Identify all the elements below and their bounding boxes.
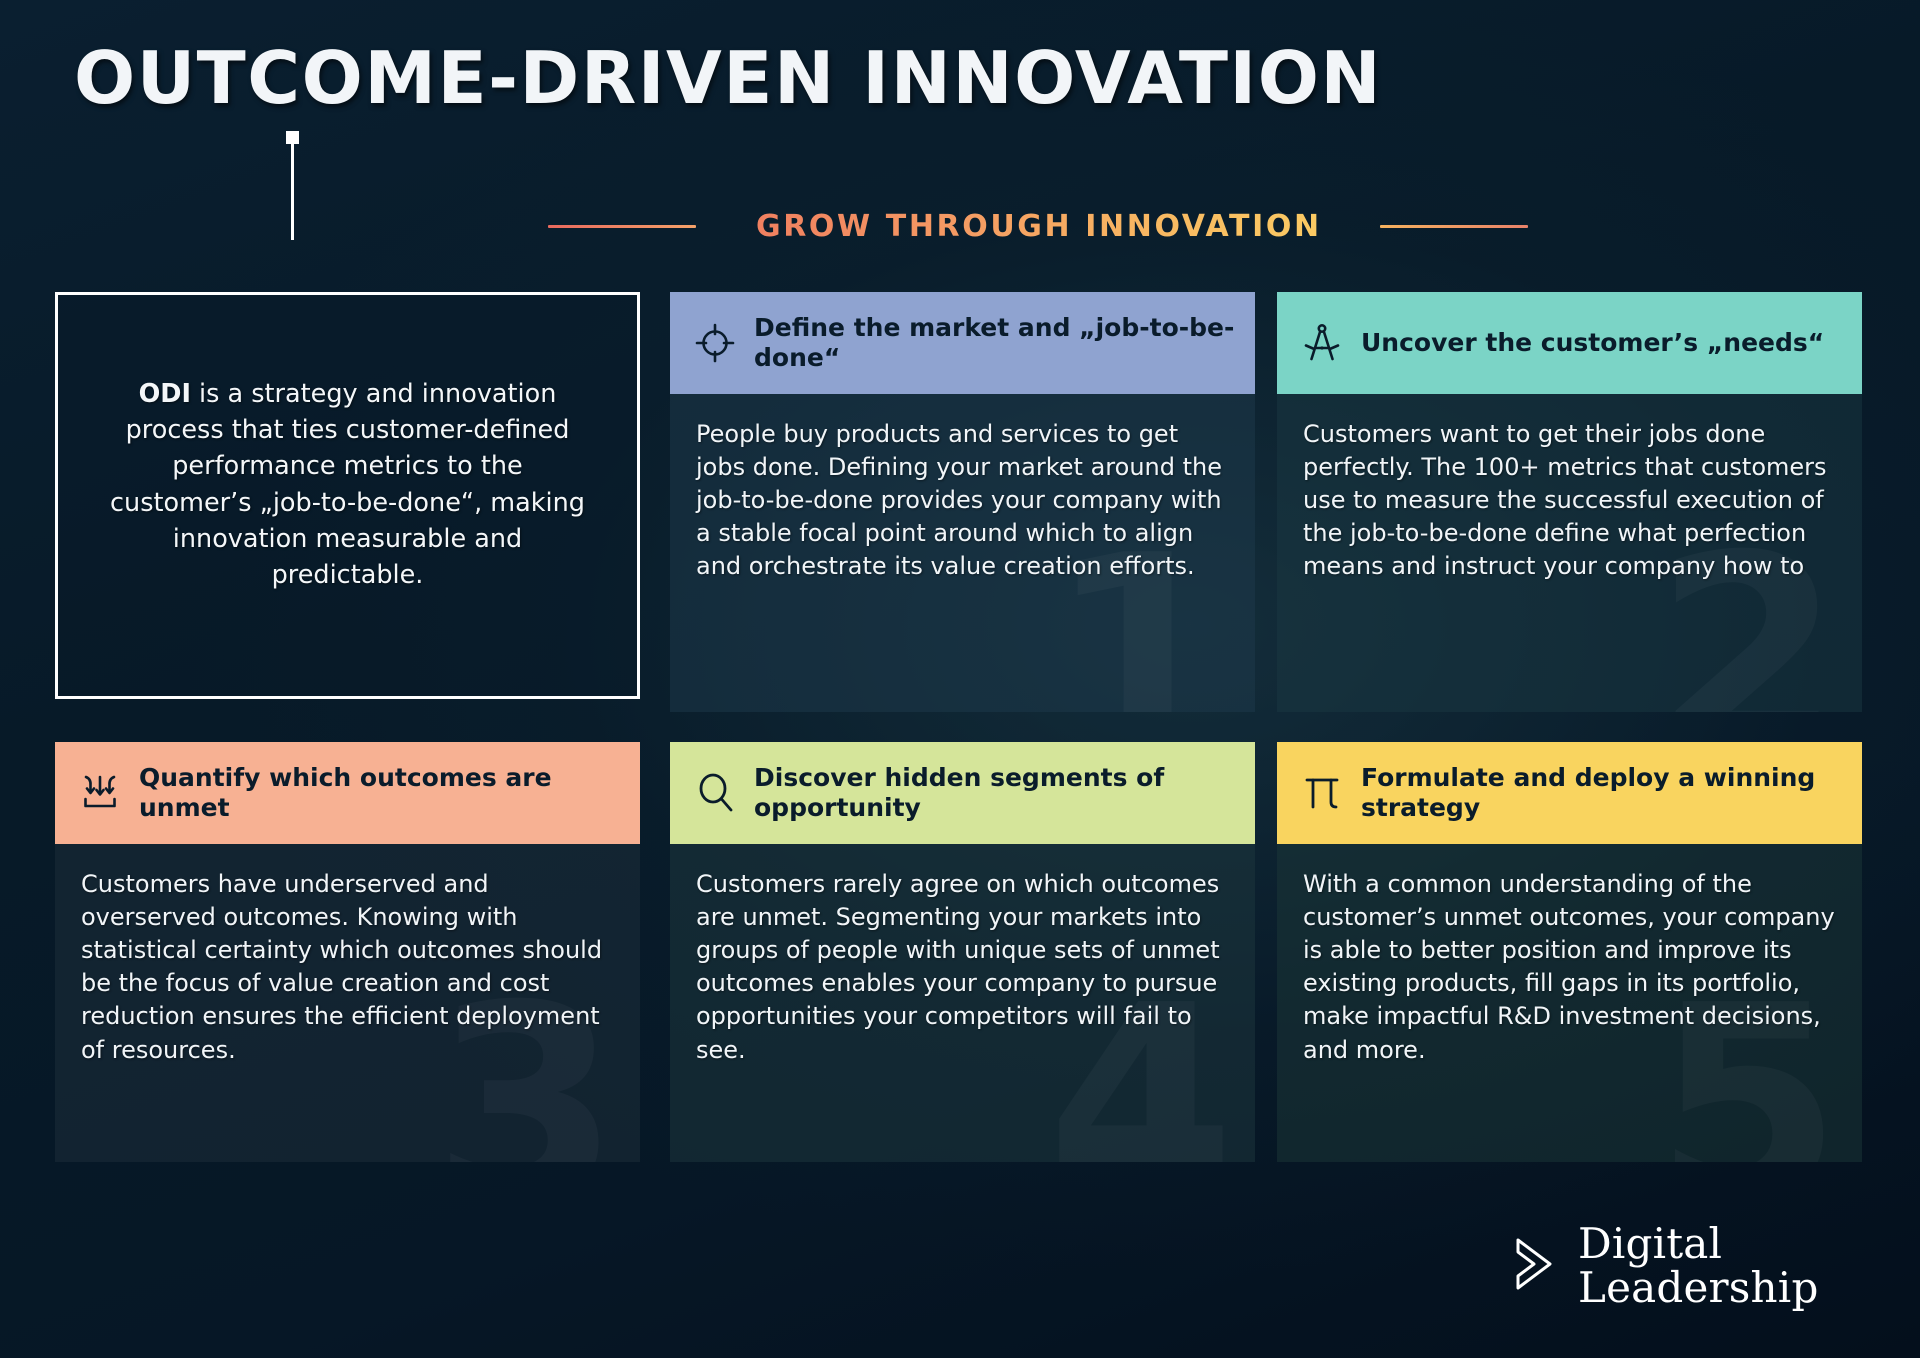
card-header: Discover hidden segments of opportunity — [670, 742, 1255, 844]
crosshair-target-icon — [692, 320, 738, 366]
card-title: Uncover the customer’s „needs“ — [1361, 328, 1824, 359]
card-header: Uncover the customer’s „needs“ — [1277, 292, 1862, 394]
odi-definition-text: ODI is a strategy and innovation process… — [98, 376, 597, 593]
subtitle-row: GROW THROUGH INNOVATION — [548, 206, 1868, 246]
arrows-into-tray-icon — [77, 770, 123, 816]
card-header: Quantify which outcomes are unmet — [55, 742, 640, 844]
card-define-market[interactable]: Define the market and „job-to-be-done“ P… — [670, 292, 1255, 712]
compass-divider-icon — [1299, 320, 1345, 366]
card-quantify-outcomes[interactable]: Quantify which outcomes are unmet Custom… — [55, 742, 640, 1162]
card-title: Formulate and deploy a winning strategy — [1361, 763, 1844, 824]
brand-wordmark: Digital Leadership — [1578, 1222, 1819, 1309]
connector-square — [286, 131, 299, 144]
pi-gate-icon — [1299, 770, 1345, 816]
brand-line-1: Digital — [1578, 1222, 1819, 1266]
card-title: Define the market and „job-to-be-done“ — [754, 313, 1237, 374]
card-body-text: People buy products and services to get … — [696, 418, 1229, 584]
card-discover-segments[interactable]: Discover hidden segments of opportunity … — [670, 742, 1255, 1162]
page-title: OUTCOME-DRIVEN INNOVATION — [74, 36, 1382, 120]
card-formulate-strategy[interactable]: Formulate and deploy a winning strategy … — [1277, 742, 1862, 1162]
brand-line-2: Leadership — [1578, 1266, 1819, 1310]
card-title: Quantify which outcomes are unmet — [139, 763, 622, 824]
card-header: Formulate and deploy a winning strategy — [1277, 742, 1862, 844]
card-body-text: Customers have underserved and overserve… — [81, 868, 614, 1067]
subtitle-text: GROW THROUGH INNOVATION — [756, 209, 1322, 244]
card-body-text: With a common understanding of the custo… — [1303, 868, 1836, 1067]
card-body: Customers have underserved and overserve… — [55, 844, 640, 1162]
card-body: Customers want to get their jobs done pe… — [1277, 394, 1862, 712]
brand-logo: Digital Leadership — [1512, 1222, 1819, 1309]
odi-lead-term: ODI — [139, 379, 191, 409]
card-body-text: Customers rarely agree on which outcomes… — [696, 868, 1229, 1067]
card-title: Discover hidden segments of opportunity — [754, 763, 1237, 824]
card-body: People buy products and services to get … — [670, 394, 1255, 712]
connector-line — [291, 144, 294, 240]
card-header: Define the market and „job-to-be-done“ — [670, 292, 1255, 394]
infographic-canvas: OUTCOME-DRIVEN INNOVATION GROW THROUGH I… — [0, 0, 1920, 1358]
chevron-right-outline-icon — [1512, 1236, 1556, 1296]
subtitle-rule-right — [1380, 225, 1528, 228]
odi-definition-body: is a strategy and innovation process tha… — [110, 379, 585, 590]
card-body: With a common understanding of the custo… — [1277, 844, 1862, 1162]
card-uncover-needs[interactable]: Uncover the customer’s „needs“ Customers… — [1277, 292, 1862, 712]
magnifying-glass-icon — [692, 770, 738, 816]
card-body: Customers rarely agree on which outcomes… — [670, 844, 1255, 1162]
subtitle-rule-left — [548, 225, 696, 228]
odi-definition-box: ODI is a strategy and innovation process… — [55, 292, 640, 699]
card-body-text: Customers want to get their jobs done pe… — [1303, 418, 1836, 584]
